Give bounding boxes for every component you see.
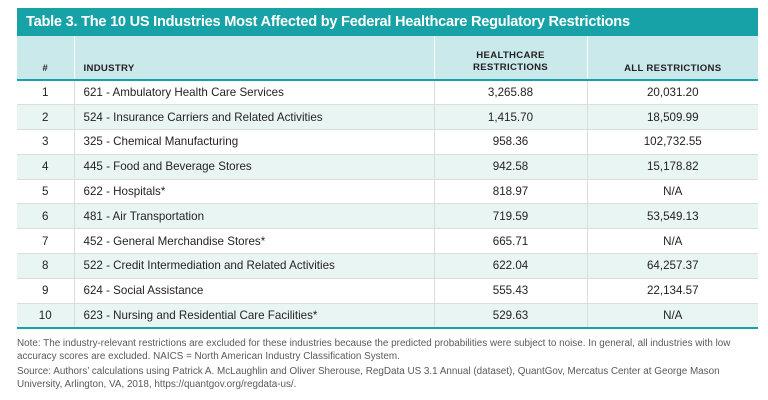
industries-table: # INDUSTRY HEALTHCARE RESTRICTIONS ALL R… [17, 36, 758, 329]
table-row: 8 522 - Credit Intermediation and Relate… [17, 254, 758, 279]
cell-industry: 522 - Credit Intermediation and Related … [74, 254, 434, 279]
cell-rank: 4 [17, 154, 74, 179]
cell-healthcare-restrictions: 719.59 [434, 204, 587, 229]
cell-industry: 481 - Air Transportation [74, 204, 434, 229]
table-row: 6 481 - Air Transportation 719.59 53,549… [17, 204, 758, 229]
cell-all-restrictions: 20,031.20 [587, 80, 758, 105]
cell-rank: 8 [17, 254, 74, 279]
cell-rank: 1 [17, 80, 74, 105]
cell-all-restrictions: 15,178.82 [587, 154, 758, 179]
column-header-industry: INDUSTRY [74, 36, 434, 80]
cell-all-restrictions: 53,549.13 [587, 204, 758, 229]
table-row: 5 622 - Hospitals* 818.97 N/A [17, 179, 758, 204]
cell-rank: 3 [17, 130, 74, 155]
cell-all-restrictions: 102,732.55 [587, 130, 758, 155]
column-header-all-restrictions: ALL RESTRICTIONS [587, 36, 758, 80]
table-row: 4 445 - Food and Beverage Stores 942.58 … [17, 154, 758, 179]
column-header-healthcare-line2: RESTRICTIONS [436, 62, 586, 74]
cell-all-restrictions: 18,509.99 [587, 105, 758, 130]
page-title: Table 3. The 10 US Industries Most Affec… [26, 14, 630, 30]
table-container: # INDUSTRY HEALTHCARE RESTRICTIONS ALL R… [17, 36, 758, 329]
table-footnotes: Note: The industry-relevant restrictions… [17, 337, 762, 392]
cell-healthcare-restrictions: 622.04 [434, 254, 587, 279]
table-row: 9 624 - Social Assistance 555.43 22,134.… [17, 278, 758, 303]
cell-industry: 445 - Food and Beverage Stores [74, 154, 434, 179]
cell-industry: 623 - Nursing and Residential Care Facil… [74, 303, 434, 328]
cell-industry: 622 - Hospitals* [74, 179, 434, 204]
cell-industry: 624 - Social Assistance [74, 278, 434, 303]
cell-all-restrictions: N/A [587, 179, 758, 204]
cell-rank: 9 [17, 278, 74, 303]
column-header-healthcare-line1: HEALTHCARE [436, 50, 586, 62]
table-row: 7 452 - General Merchandise Stores* 665.… [17, 229, 758, 254]
table-header: # INDUSTRY HEALTHCARE RESTRICTIONS ALL R… [17, 36, 758, 80]
cell-all-restrictions: 22,134.57 [587, 278, 758, 303]
table-body: 1 621 - Ambulatory Health Care Services … [17, 80, 758, 328]
cell-rank: 5 [17, 179, 74, 204]
column-header-healthcare-restrictions: HEALTHCARE RESTRICTIONS [434, 36, 587, 80]
cell-healthcare-restrictions: 1,415.70 [434, 105, 587, 130]
table-header-row: # INDUSTRY HEALTHCARE RESTRICTIONS ALL R… [17, 36, 758, 80]
table-row: 2 524 - Insurance Carriers and Related A… [17, 105, 758, 130]
table-row: 1 621 - Ambulatory Health Care Services … [17, 80, 758, 105]
table-row: 3 325 - Chemical Manufacturing 958.36 10… [17, 130, 758, 155]
cell-all-restrictions: N/A [587, 303, 758, 328]
cell-healthcare-restrictions: 818.97 [434, 179, 587, 204]
cell-all-restrictions: 64,257.37 [587, 254, 758, 279]
cell-healthcare-restrictions: 665.71 [434, 229, 587, 254]
cell-rank: 7 [17, 229, 74, 254]
cell-healthcare-restrictions: 529.63 [434, 303, 587, 328]
cell-healthcare-restrictions: 3,265.88 [434, 80, 587, 105]
column-header-rank: # [17, 36, 74, 80]
cell-rank: 10 [17, 303, 74, 328]
table-row: 10 623 - Nursing and Residential Care Fa… [17, 303, 758, 328]
cell-industry: 452 - General Merchandise Stores* [74, 229, 434, 254]
cell-healthcare-restrictions: 942.58 [434, 154, 587, 179]
cell-rank: 2 [17, 105, 74, 130]
table-figure: Table 3. The 10 US Industries Most Affec… [0, 0, 768, 400]
cell-all-restrictions: N/A [587, 229, 758, 254]
footnote-source: Source: Authors’ calculations using Patr… [17, 365, 762, 392]
cell-industry: 325 - Chemical Manufacturing [74, 130, 434, 155]
cell-industry: 621 - Ambulatory Health Care Services [74, 80, 434, 105]
cell-healthcare-restrictions: 958.36 [434, 130, 587, 155]
cell-healthcare-restrictions: 555.43 [434, 278, 587, 303]
cell-rank: 6 [17, 204, 74, 229]
footnote-note: Note: The industry-relevant restrictions… [17, 337, 762, 364]
cell-industry: 524 - Insurance Carriers and Related Act… [74, 105, 434, 130]
table-title-bar: Table 3. The 10 US Industries Most Affec… [17, 8, 758, 36]
